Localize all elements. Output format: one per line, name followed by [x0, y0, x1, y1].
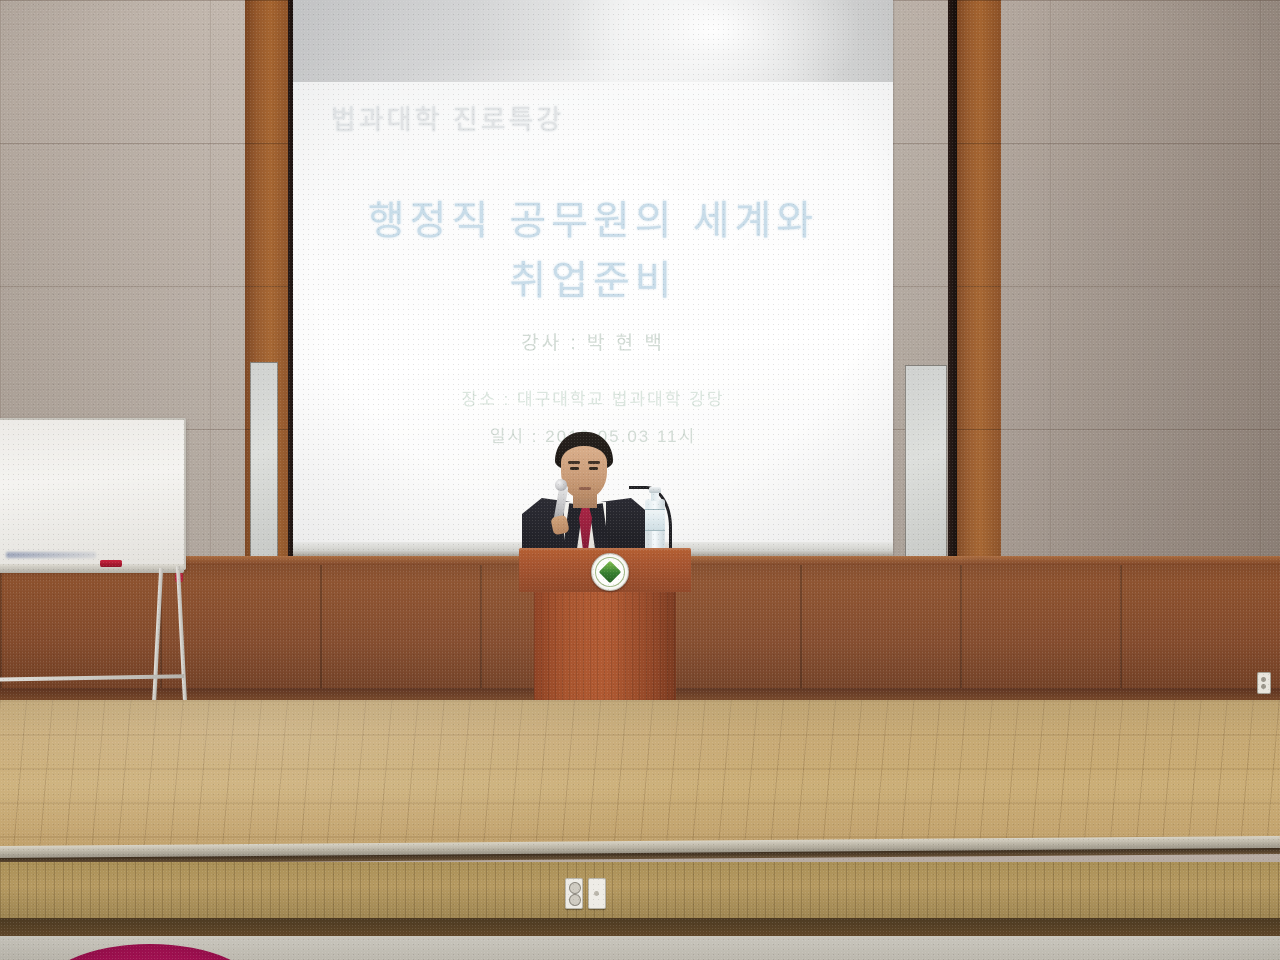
- stage-front-face: [0, 862, 1280, 922]
- screen-glow: [293, 60, 893, 480]
- hand-holding-microphone: [550, 515, 569, 536]
- face: [561, 446, 607, 498]
- slide-title-line-1: 행정직 공무원의 세계와: [293, 188, 893, 246]
- power-outlet-blank-plate: [588, 878, 606, 909]
- stage-floor: [0, 700, 1280, 852]
- slide-eyebrow-text: 법과대학 진로특강: [293, 98, 893, 137]
- lecture-hall-photo: 법과대학 진로특강 행정직 공무원의 세계와 취업준비 강사 : 박 현 백 장…: [0, 0, 1280, 960]
- side-panel-board-left: [250, 362, 278, 560]
- eyebrow-right: [588, 461, 600, 464]
- eye-left: [570, 467, 579, 470]
- mouth: [579, 487, 591, 490]
- wall-socket-lower: [1261, 684, 1266, 689]
- microphone-head-icon: [555, 479, 567, 491]
- bottle-cap: [649, 487, 661, 493]
- floor-sheen: [0, 700, 1280, 852]
- power-outlet-double: [565, 878, 583, 909]
- socket-lower: [569, 894, 581, 906]
- wall-socket-upper: [1261, 677, 1266, 682]
- screen-unlit-band: [293, 0, 893, 82]
- whiteboard-writing: [6, 552, 96, 558]
- mobile-whiteboard: [0, 418, 200, 730]
- university-emblem-icon: [591, 553, 629, 591]
- whiteboard-tray: [0, 564, 184, 573]
- slide-title-line-2: 취업준비: [293, 248, 893, 306]
- side-panel-board-right: [905, 365, 947, 567]
- bottle-label: [645, 509, 665, 531]
- socket-blank: [594, 891, 599, 896]
- podium-front-panel: [519, 548, 691, 592]
- slide-speaker-text: 강사 : 박 현 백: [293, 328, 893, 355]
- water-bottle: [645, 487, 665, 553]
- slide-venue-text: 장소 : 대구대학교 법과대학 강당: [293, 385, 893, 410]
- eyebrow-left: [568, 461, 580, 464]
- whiteboard-leg-right: [176, 566, 188, 722]
- eye-right: [589, 467, 598, 470]
- socket-upper: [569, 882, 581, 894]
- stage-face-texture: [0, 862, 1280, 922]
- floor-baseboard: [0, 918, 1280, 938]
- whiteboard-marker: [100, 560, 122, 567]
- whiteboard-panel: [0, 418, 186, 570]
- wall-outlet-right: [1257, 672, 1271, 694]
